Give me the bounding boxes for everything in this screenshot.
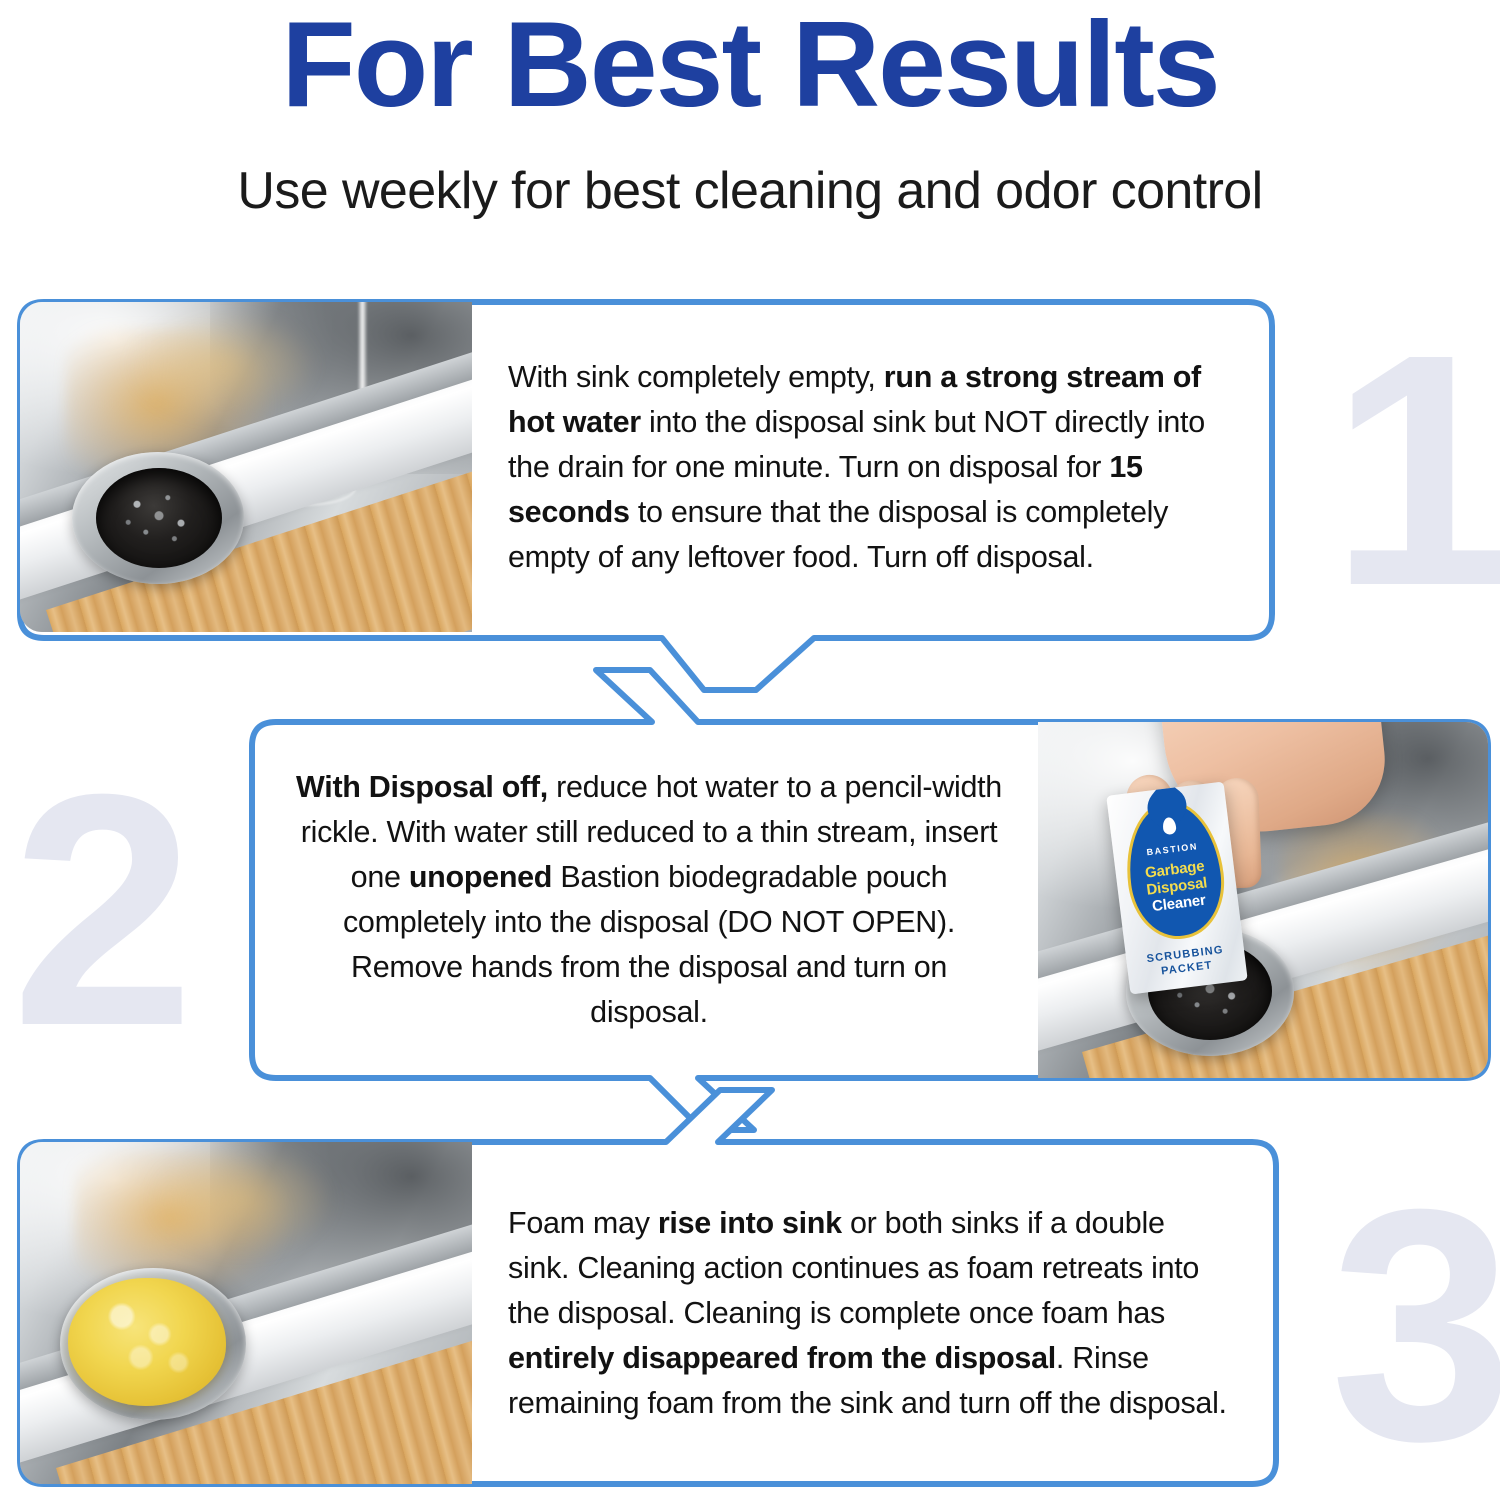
product-packet: BASTION Garbage Disposal Cleaner SCRUBBI… (1106, 782, 1247, 995)
step-number-3-watermark: 3 (1330, 1175, 1500, 1475)
step-number-2-watermark: 2 (0, 760, 200, 1060)
packet-brand: BASTION (1127, 838, 1217, 859)
warm-reflection-secondary (147, 1142, 337, 1258)
step-number-1-watermark: 1 (1330, 320, 1500, 620)
drain-debris (104, 478, 214, 560)
page-title: For Best Results (0, 2, 1500, 126)
water-drop-icon (1162, 817, 1177, 835)
step-2-callout: With Disposal off, reduce hot water to a… (246, 716, 1494, 1136)
warm-reflection-secondary (128, 309, 318, 421)
drop-logo-shape: BASTION Garbage Disposal Cleaner (1122, 799, 1227, 941)
step-2-photo: BASTION Garbage Disposal Cleaner SCRUBBI… (1038, 722, 1488, 1078)
step-3-callout: Foam may rise into sink or both sinks if… (14, 1136, 1282, 1492)
step-3-photo (20, 1142, 472, 1484)
step-1-photo (20, 302, 472, 632)
step-1-callout: With sink completely empty, run a strong… (14, 296, 1278, 696)
step-3-text: Foam may rise into sink or both sinks if… (508, 1201, 1228, 1426)
page-subtitle: Use weekly for best cleaning and odor co… (0, 160, 1500, 222)
infographic-page: For Best Results Use weekly for best cle… (0, 0, 1500, 1497)
step-1-text: With sink completely empty, run a strong… (508, 355, 1228, 580)
foam-overflow (68, 1278, 226, 1406)
step-2-text: With Disposal off, reduce hot water to a… (290, 765, 1008, 1035)
